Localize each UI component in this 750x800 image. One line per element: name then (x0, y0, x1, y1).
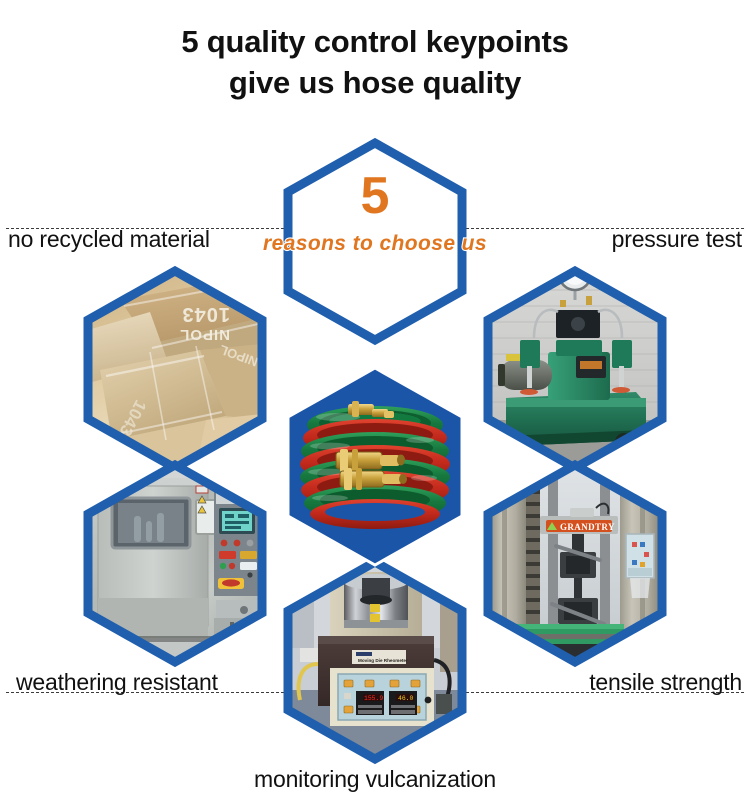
label-no-recycled-material: no recycled material (8, 226, 210, 253)
hexagon-no-recycled-material[interactable]: NIPOL 1043 NIPOL 1043 (88, 271, 262, 468)
reasons-tagline: reasons to choose us (258, 232, 492, 256)
label-tensile-strength: tensile strength (589, 669, 742, 696)
reasons-count: 5 (288, 170, 462, 222)
hexagon-product-hose[interactable] (288, 368, 462, 565)
hexagon-weathering-resistant[interactable] (88, 465, 262, 662)
svg-text:GRANDTRY: GRANDTRY (560, 522, 615, 532)
label-weathering-resistant: weathering resistant (16, 669, 218, 696)
svg-text:1043: 1043 (182, 303, 231, 325)
label-pressure-test: pressure test (612, 226, 742, 253)
label-monitoring-vulcanization: monitoring vulcanization (0, 766, 750, 793)
hexagon-pressure-test[interactable] (488, 258, 662, 468)
photo-twin-welding-hose (300, 401, 450, 529)
svg-text:NIPOL: NIPOL (179, 326, 230, 343)
hexagon-monitoring-vulcanization[interactable]: Moving Die Rheometer (288, 562, 462, 759)
svg-text:155.9: 155.9 (364, 695, 383, 702)
infographic-canvas: 5 quality control keypoints give us hose… (0, 0, 750, 800)
svg-text:46.0: 46.0 (398, 695, 414, 702)
hexagon-tensile-strength[interactable]: GRANDTRY (488, 465, 662, 662)
svg-text:Moving Die Rheometer: Moving Die Rheometer (358, 658, 408, 663)
